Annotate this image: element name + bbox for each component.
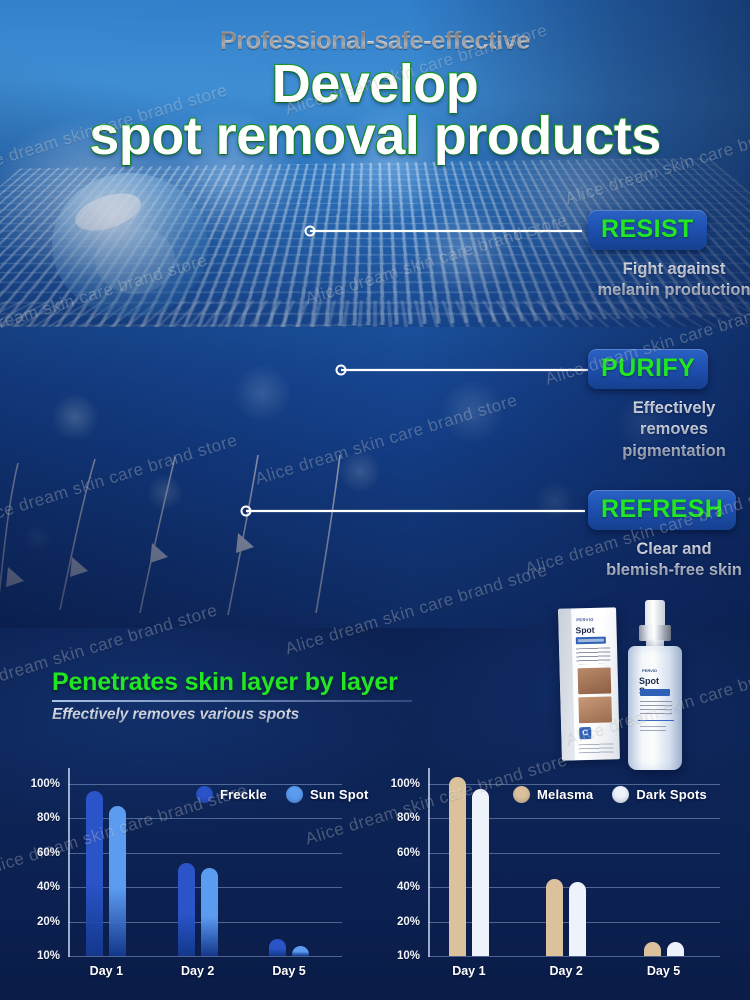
feature-desc-line2: melanin production — [588, 280, 750, 301]
feature-chip-purify[interactable]: PURIFY — [588, 349, 708, 389]
feature-desc-line1: Fight against — [588, 259, 750, 280]
page-title-line1: Develop — [0, 58, 750, 111]
chart-melasma-darkspots: 10%20%40%60%80%100%Day 1Day 2Day 5Melasm… — [382, 770, 730, 985]
feature-title: RESIST — [601, 215, 694, 244]
page-title-line2: spot removal products — [0, 109, 750, 163]
legend-swatch-icon — [196, 786, 213, 803]
product-box-after-photo — [578, 696, 612, 723]
feature-desc-line2: blemish-free skin — [588, 560, 750, 581]
x-axis-category-label: Day 2 — [181, 964, 214, 978]
legend-swatch-icon — [513, 786, 530, 803]
bar — [644, 942, 661, 956]
y-axis-tick-label: 60% — [397, 847, 420, 859]
y-axis-tick-label: 20% — [397, 916, 420, 928]
chart-freckle-sunspot: 10%20%40%60%80%100%Day 1Day 2Day 5Freckl… — [22, 770, 352, 985]
bar — [178, 863, 195, 956]
bar — [667, 942, 684, 956]
kicker-text: Professional-safe-effective — [0, 27, 750, 56]
feature-chip-resist[interactable]: RESIST — [588, 210, 707, 250]
bottle-tagline-bar — [640, 689, 670, 696]
section-subtitle: Effectively removes various spots — [52, 706, 299, 724]
feature-callout-purify: PURIFY Effectively removes pigmentation — [588, 349, 750, 462]
legend-swatch-icon — [612, 786, 629, 803]
y-axis — [68, 768, 70, 957]
feature-desc-line2: removes pigmentation — [588, 419, 750, 462]
dropper-cap-icon — [645, 600, 665, 626]
bar — [569, 882, 586, 956]
feature-callout-resist: RESIST Fight against melanin production — [588, 210, 750, 302]
feature-chip-refresh[interactable]: REFRESH — [588, 490, 736, 530]
y-axis — [428, 768, 430, 957]
bar — [86, 791, 103, 956]
y-axis-tick-label: 40% — [37, 881, 60, 893]
feature-title: PURIFY — [601, 354, 695, 383]
gridline — [68, 784, 342, 785]
feature-desc-line1: Clear and — [588, 539, 750, 560]
gridline — [428, 956, 720, 957]
legend-swatch-icon — [286, 786, 303, 803]
gridline — [428, 784, 720, 785]
product-box: PERVIO Spot Serum C — [558, 607, 620, 760]
product-box-tagline-bar — [576, 637, 606, 645]
feature-description: Clear and blemish-free skin — [588, 539, 750, 582]
product-bottle: PERVIO Spot Serum — [622, 600, 688, 772]
product-box-side — [558, 608, 575, 760]
x-axis-category-label: Day 1 — [452, 964, 485, 978]
y-axis-tick-label: 100% — [391, 778, 420, 790]
feature-title: REFRESH — [601, 495, 723, 524]
chart-legend: MelasmaDark Spots — [513, 786, 707, 803]
bar — [546, 879, 563, 956]
feature-description: Fight against melanin production — [588, 259, 750, 302]
product-image: PERVIO Spot Serum C PERVIO Spot Serum — [560, 600, 700, 780]
y-axis-tick-label: 60% — [37, 847, 60, 859]
bar — [109, 806, 126, 956]
x-axis-category-label: Day 5 — [647, 964, 680, 978]
x-axis-category-label: Day 5 — [272, 964, 305, 978]
y-axis-tick-label: 20% — [37, 916, 60, 928]
legend-label: Freckle — [220, 787, 267, 802]
vitamin-c-badge-icon: C — [579, 727, 591, 739]
bar — [201, 868, 218, 956]
y-axis-tick-label: 10% — [397, 950, 420, 962]
section-divider — [52, 700, 412, 702]
section-title: Penetrates skin layer by layer — [52, 668, 398, 697]
x-axis-category-label: Day 2 — [550, 964, 583, 978]
bar — [269, 939, 286, 956]
bar — [449, 777, 466, 956]
feature-desc-line1: Effectively — [588, 398, 750, 419]
bottle-copy-lines — [640, 701, 672, 715]
product-box-copy-lines — [576, 647, 610, 664]
product-box-before-photo — [578, 667, 612, 694]
y-axis-tick-label: 40% — [397, 881, 420, 893]
bottle-volume-lines — [640, 726, 666, 734]
y-axis-tick-label: 80% — [397, 812, 420, 824]
dropper-collar-icon — [639, 625, 671, 641]
product-box-footer-lines — [579, 743, 614, 754]
headline-block: Professional-safe-effective Develop spot… — [0, 0, 750, 163]
chart-legend: FreckleSun Spot — [196, 786, 369, 803]
y-axis-tick-label: 100% — [31, 778, 60, 790]
y-axis-tick-label: 80% — [37, 812, 60, 824]
product-box-brand: PERVIO — [576, 617, 594, 622]
legend-label: Dark Spots — [636, 787, 707, 802]
legend-label: Sun Spot — [310, 787, 369, 802]
bottle-body: PERVIO Spot Serum — [628, 646, 682, 770]
feature-callout-refresh: REFRESH Clear and blemish-free skin — [588, 490, 750, 582]
legend-label: Melasma — [537, 787, 593, 802]
bottle-brand: PERVIO — [642, 668, 657, 673]
bar — [292, 946, 309, 956]
y-axis-tick-label: 10% — [37, 950, 60, 962]
gridline — [68, 956, 342, 957]
bottle-label-divider — [638, 720, 674, 721]
x-axis-category-label: Day 1 — [90, 964, 123, 978]
bar — [472, 789, 489, 956]
feature-description: Effectively removes pigmentation — [588, 398, 750, 462]
poster-root: Professional-safe-effective Develop spot… — [0, 0, 750, 1000]
